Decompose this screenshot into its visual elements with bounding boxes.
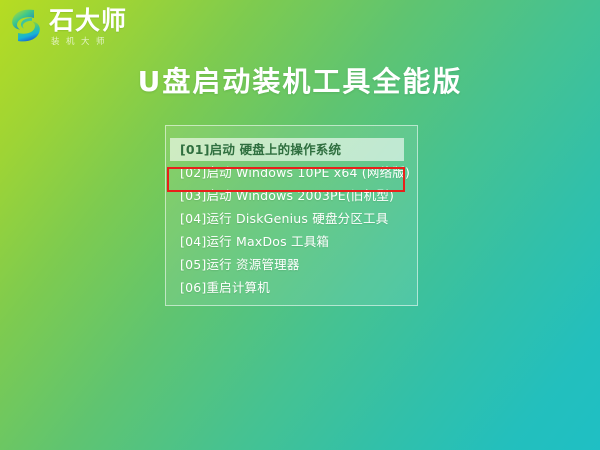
boot-menu-item-04-maxdos[interactable]: [04]运行 MaxDos 工具箱 bbox=[166, 230, 417, 253]
boot-menu-item-label: [03]启动 Windows 2003PE(旧机型) bbox=[180, 188, 394, 203]
boot-menu-item-05[interactable]: [05]运行 资源管理器 bbox=[166, 253, 417, 276]
page-title: U盘启动装机工具全能版 bbox=[0, 62, 600, 102]
brand-name: 石大师 bbox=[49, 7, 127, 34]
boot-menu-screen: 石大师 装机大师 U盘启动装机工具全能版 [01]启动 硬盘上的操作系统 [02… bbox=[0, 0, 600, 450]
boot-menu-item-label: [06]重启计算机 bbox=[180, 280, 270, 295]
boot-menu-item-06[interactable]: [06]重启计算机 bbox=[166, 276, 417, 299]
boot-menu-item-label: [04]运行 MaxDos 工具箱 bbox=[180, 234, 329, 249]
boot-menu-item-04-diskgenius[interactable]: [04]运行 DiskGenius 硬盘分区工具 bbox=[166, 207, 417, 230]
brand-logo: 石大师 装机大师 bbox=[9, 5, 127, 48]
brand-text-block: 石大师 装机大师 bbox=[49, 5, 127, 48]
boot-menu-item-label: [04]运行 DiskGenius 硬盘分区工具 bbox=[180, 211, 388, 226]
brand-subtitle: 装机大师 bbox=[49, 36, 127, 48]
boot-menu-item-label: [02]启动 Windows 10PE x64 (网络版) bbox=[180, 165, 410, 180]
boot-menu-item-02[interactable]: [02]启动 Windows 10PE x64 (网络版) bbox=[166, 161, 417, 184]
boot-menu-item-label: [05]运行 资源管理器 bbox=[180, 257, 300, 272]
boot-menu-item-01[interactable]: [01]启动 硬盘上的操作系统 bbox=[170, 138, 404, 161]
boot-menu-item-03[interactable]: [03]启动 Windows 2003PE(旧机型) bbox=[166, 184, 417, 207]
boot-menu-panel: [01]启动 硬盘上的操作系统 [02]启动 Windows 10PE x64 … bbox=[165, 125, 418, 306]
leaf-s-mark-icon bbox=[9, 7, 43, 44]
boot-menu-item-label: [01]启动 硬盘上的操作系统 bbox=[180, 142, 341, 157]
